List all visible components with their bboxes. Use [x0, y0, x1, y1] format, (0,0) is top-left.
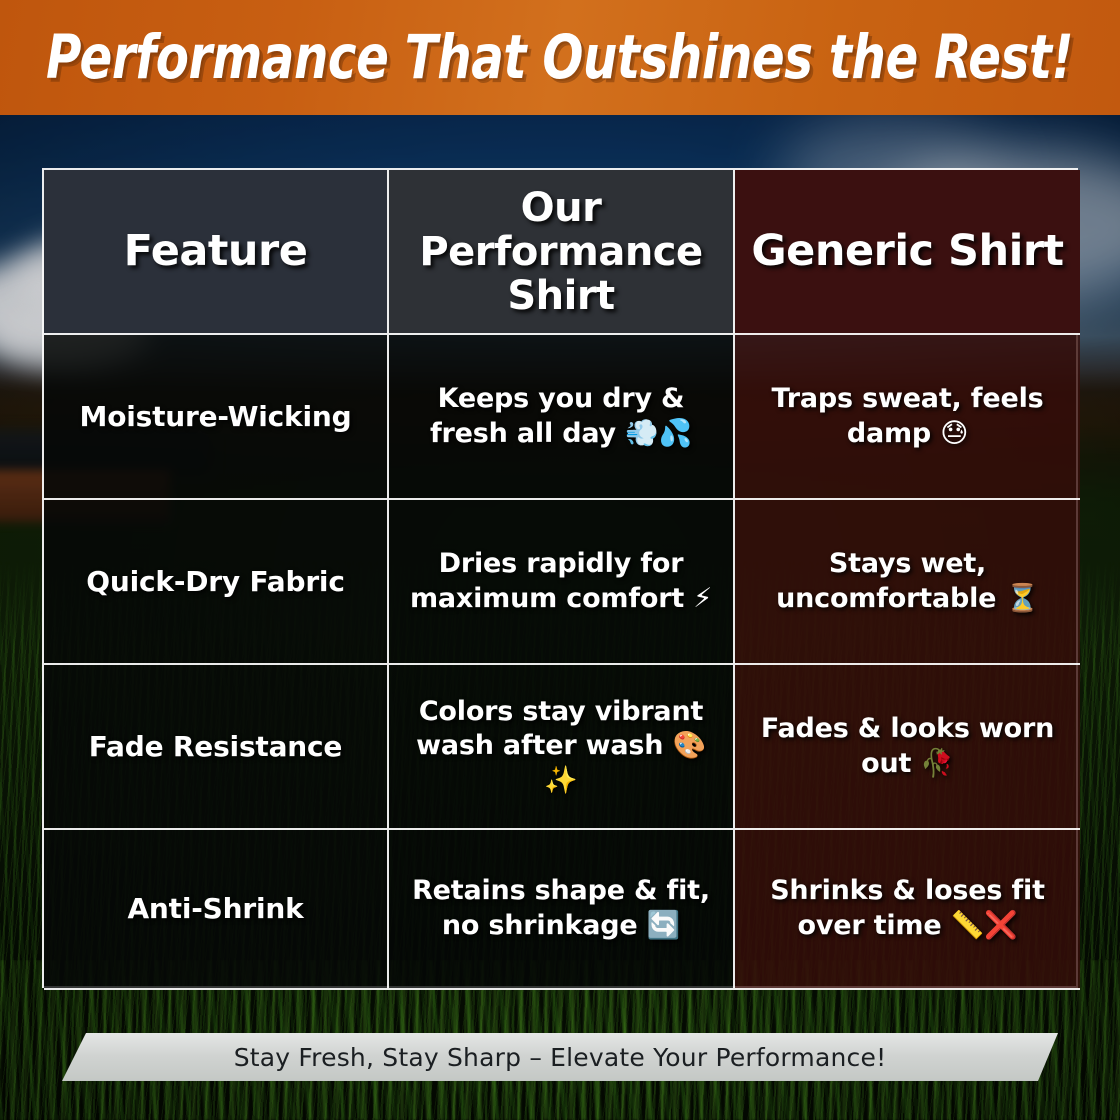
column-header-our-shirt-label: Our Performance Shirt [405, 186, 717, 318]
table-row: Dries rapidly for maximum comfort ⚡ [389, 500, 735, 665]
our-shirt-benefit: Colors stay vibrant wash after wash 🎨✨ [405, 695, 717, 799]
comparison-table: Feature Our Performance Shirt Generic Sh… [42, 168, 1078, 988]
table-row: Moisture-Wicking [44, 335, 389, 500]
table-row: Fades & looks worn out 🥀 [735, 665, 1080, 830]
column-header-feature: Feature [44, 170, 389, 335]
table-row: Fade Resistance [44, 665, 389, 830]
column-header-generic-shirt-label: Generic Shirt [751, 229, 1063, 275]
generic-shirt-drawback: Fades & looks worn out 🥀 [751, 712, 1064, 781]
generic-shirt-drawback: Traps sweat, feels damp 😓 [751, 382, 1064, 451]
footer-ribbon: Stay Fresh, Stay Sharp – Elevate Your Pe… [62, 1033, 1058, 1081]
our-shirt-benefit: Retains shape & fit, no shrinkage 🔄 [405, 874, 717, 943]
table-row: Quick-Dry Fabric [44, 500, 389, 665]
generic-shirt-drawback: Stays wet, uncomfortable ⏳ [751, 547, 1064, 616]
generic-shirt-drawback: Shrinks & loses fit over time 📏❌ [751, 874, 1064, 943]
table-row: Retains shape & fit, no shrinkage 🔄 [389, 830, 735, 990]
footer-tagline: Stay Fresh, Stay Sharp – Elevate Your Pe… [234, 1043, 887, 1072]
table-row: Stays wet, uncomfortable ⏳ [735, 500, 1080, 665]
table-row: Shrinks & loses fit over time 📏❌ [735, 830, 1080, 990]
table-row: Traps sweat, feels damp 😓 [735, 335, 1080, 500]
table-row: Keeps you dry & fresh all day 💨💦 [389, 335, 735, 500]
column-header-our-shirt: Our Performance Shirt [389, 170, 735, 335]
our-shirt-benefit: Keeps you dry & fresh all day 💨💦 [405, 382, 717, 451]
our-shirt-benefit: Dries rapidly for maximum comfort ⚡ [405, 547, 717, 616]
column-header-generic-shirt: Generic Shirt [735, 170, 1080, 335]
promo-comparison-poster: Performance That Outshines the Rest! Fea… [0, 0, 1120, 1120]
header-banner: Performance That Outshines the Rest! [0, 0, 1120, 115]
column-header-feature-label: Feature [124, 229, 308, 275]
page-title: Performance That Outshines the Rest! [46, 22, 1073, 93]
feature-name: Fade Resistance [89, 729, 342, 765]
feature-name: Anti-Shrink [127, 891, 303, 927]
feature-name: Moisture-Wicking [80, 399, 352, 435]
feature-name: Quick-Dry Fabric [86, 564, 344, 600]
table-row: Colors stay vibrant wash after wash 🎨✨ [389, 665, 735, 830]
table-row: Anti-Shrink [44, 830, 389, 990]
